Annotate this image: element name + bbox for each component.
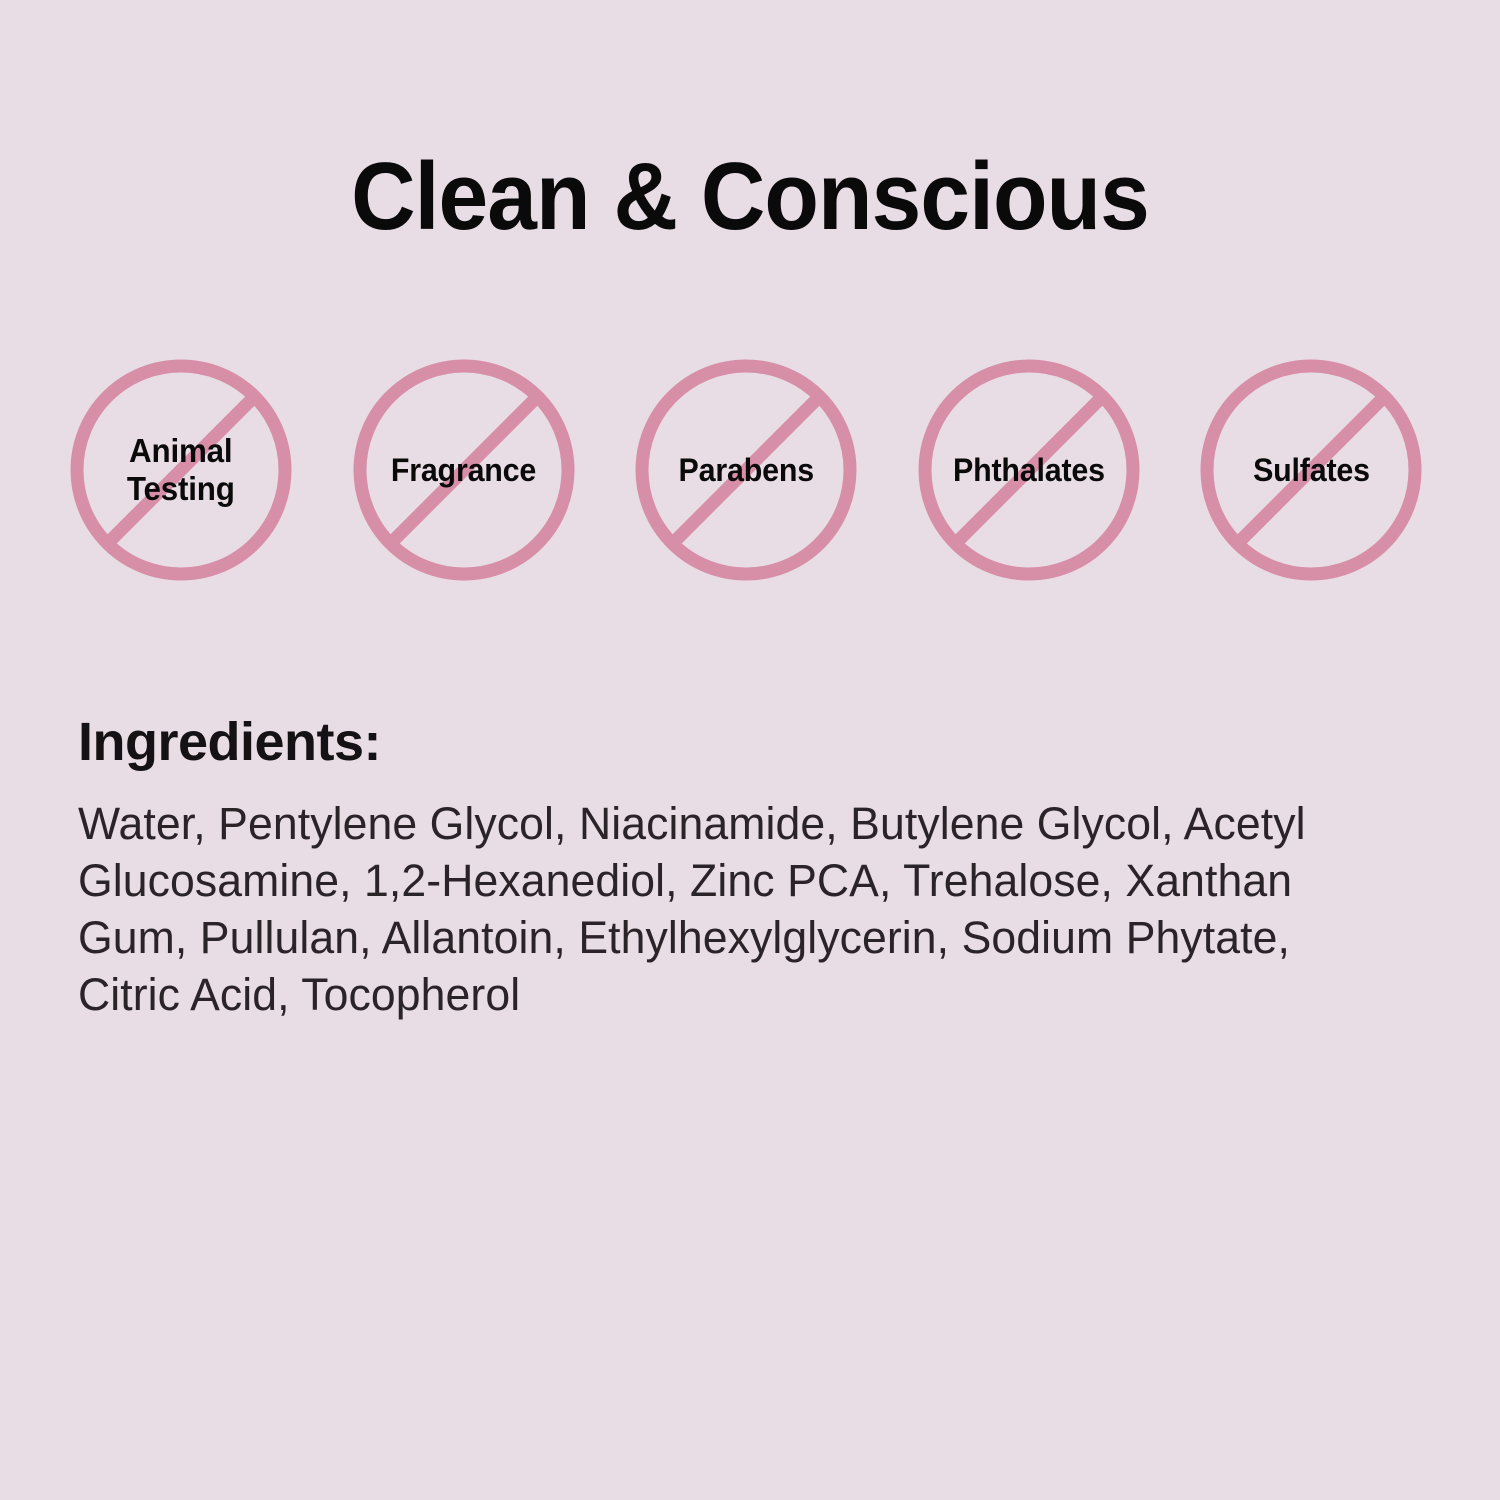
badge-label: Fragrance — [391, 452, 536, 488]
badge-phthalates: Phthalates — [918, 359, 1140, 581]
ingredients-list-text: Water, Pentylene Glycol, Niacinamide, Bu… — [78, 795, 1355, 1023]
badge-parabens: Parabens — [635, 359, 857, 581]
ingredients-heading: Ingredients: — [78, 711, 381, 773]
page-title: Clean & Conscious — [53, 143, 1448, 251]
free-from-badge-row: Animal Testing Fragrance Parabens Phthal… — [70, 358, 1422, 582]
badge-label: Parabens — [678, 452, 813, 488]
badge-fragrance: Fragrance — [353, 359, 575, 581]
badge-label: Animal Testing — [127, 432, 235, 508]
badge-animal-testing: Animal Testing — [70, 359, 292, 581]
product-info-panel: Clean & Conscious Animal Testing Fragran… — [0, 0, 1500, 1500]
badge-label: Sulfates — [1253, 452, 1370, 488]
badge-label: Phthalates — [953, 452, 1105, 488]
badge-sulfates: Sulfates — [1200, 359, 1422, 581]
